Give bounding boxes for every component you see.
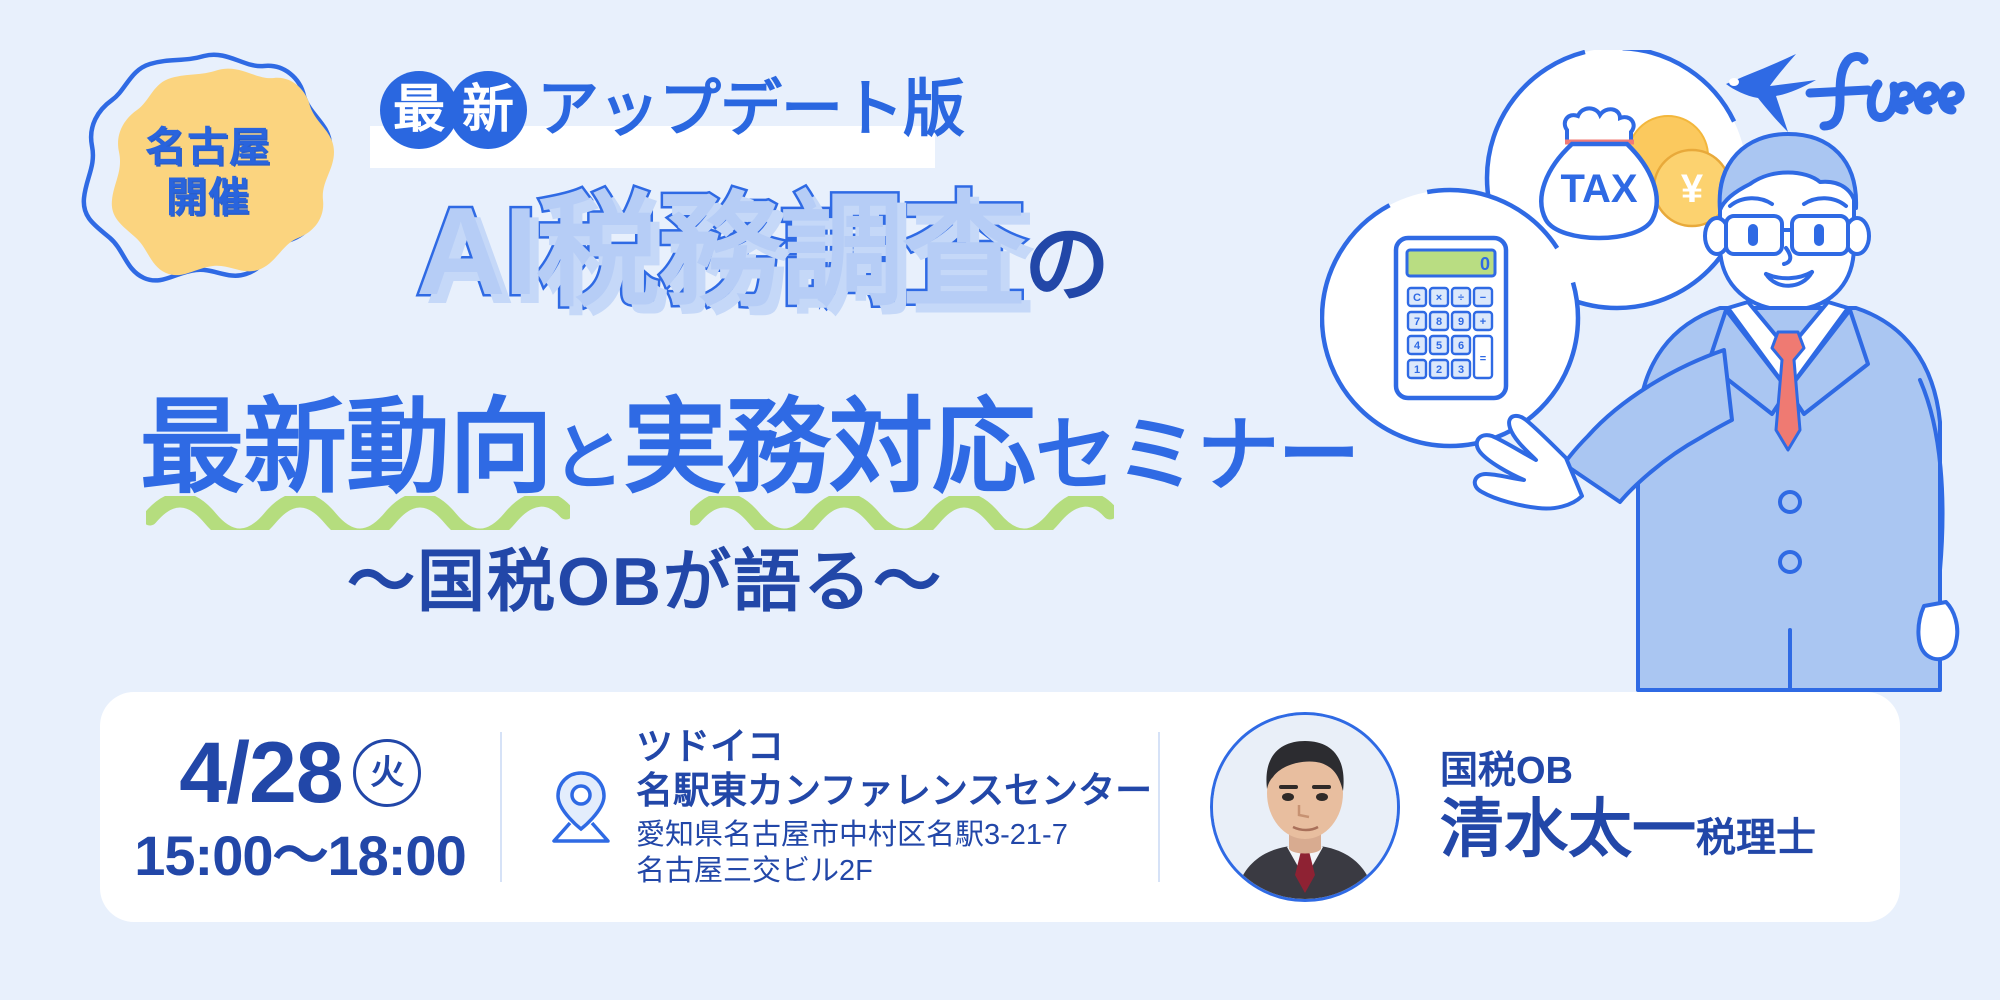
title-line-2-tail: セミナー [1035,410,1359,501]
speaker-avatar [1210,712,1400,902]
title-line-1-tail: の [1024,217,1110,313]
title-line-1: AI税務調査の [416,190,1110,314]
svg-text:+: + [1480,316,1486,328]
venue-name-line1: ツドイコ [636,725,1152,769]
svg-text:5: 5 [1436,340,1442,352]
date-line: 4/28 火 [179,730,420,816]
kicker-wrap: 最 新 アップデート版 [380,62,964,158]
svg-text:1: 1 [1414,364,1420,376]
hero-illustration: ¥ TAX 0 C×÷− [1320,50,2000,710]
map-pin-icon [548,769,614,845]
date-column: 4/28 火 15:00〜18:00 [100,730,500,884]
speaker-role: 国税OB [1440,751,1816,793]
svg-text:−: − [1480,292,1486,304]
venue-text: ツドイコ 名駅東カンファレンスセンター 愛知県名古屋市中村区名駅3-21-7 名… [636,725,1152,889]
svg-text:7: 7 [1414,316,1420,328]
svg-text:=: = [1480,353,1486,365]
svg-text:8: 8 [1436,316,1442,328]
kicker: 最 新 アップデート版 [380,62,964,158]
title-line-1-main: AI税務調査 [416,183,1024,321]
venue-address-line1: 愛知県名古屋市中村区名駅3-21-7 [636,818,1152,853]
venue-column: ツドイコ 名駅東カンファレンスセンター 愛知県名古屋市中村区名駅3-21-7 名… [502,725,1158,889]
speaker-text: 国税OB 清水太一税理士 [1440,751,1816,864]
speaker-name: 清水太一 [1440,793,1696,865]
title-line-2-a: 最新動向 [140,390,552,506]
svg-text:C: C [1413,292,1421,304]
kicker-circle-1: 最 [380,71,458,149]
title-line-2: 最新動向と実務対応セミナー [140,396,1359,500]
event-info-card: 4/28 火 15:00〜18:00 ツドイコ 名駅東カンファレンスセンター 愛… [100,692,1900,922]
event-time: 15:00〜18:00 [134,828,465,884]
coin-yen-symbol: ¥ [1681,167,1704,211]
badge-line1: 名古屋 [145,125,271,169]
title-line-2-b: 実務対応 [623,390,1035,506]
speaker-column: 国税OB 清水太一税理士 [1160,712,1900,902]
subtitle: 〜国税OBが語る〜 [0,548,1290,616]
svg-text:×: × [1436,292,1442,304]
svg-text:2: 2 [1436,364,1442,376]
day-of-week-badge: 火 [353,739,421,807]
svg-text:4: 4 [1414,340,1421,352]
kicker-rest: アップデート版 [537,79,964,141]
event-date: 4/28 [179,730,342,816]
svg-text:3: 3 [1458,364,1464,376]
seminar-banner: 名古屋 開催 ¥ TAX 0 [0,0,2000,1000]
venue-name-line2: 名駅東カンファレンスセンター [636,769,1152,813]
calculator-display-value: 0 [1480,254,1490,274]
location-badge: 名古屋 開催 [78,48,338,296]
badge-text: 名古屋 開催 [78,48,338,296]
badge-line2: 開催 [166,175,250,219]
svg-text:9: 9 [1458,316,1464,328]
venue-address-line2: 名古屋三交ビル2F [636,854,1152,889]
kicker-circle-2: 新 [449,71,527,149]
tax-bag-label: TAX [1560,167,1637,211]
wavy-underline-2 [690,496,1114,530]
svg-text:÷: ÷ [1458,292,1464,304]
wavy-underline-1 [146,496,570,530]
speaker-suffix: 税理士 [1696,816,1816,860]
svg-text:6: 6 [1458,340,1464,352]
speaker-name-wrap: 清水太一税理士 [1440,796,1816,863]
title-line-2-mid: と [552,419,623,499]
